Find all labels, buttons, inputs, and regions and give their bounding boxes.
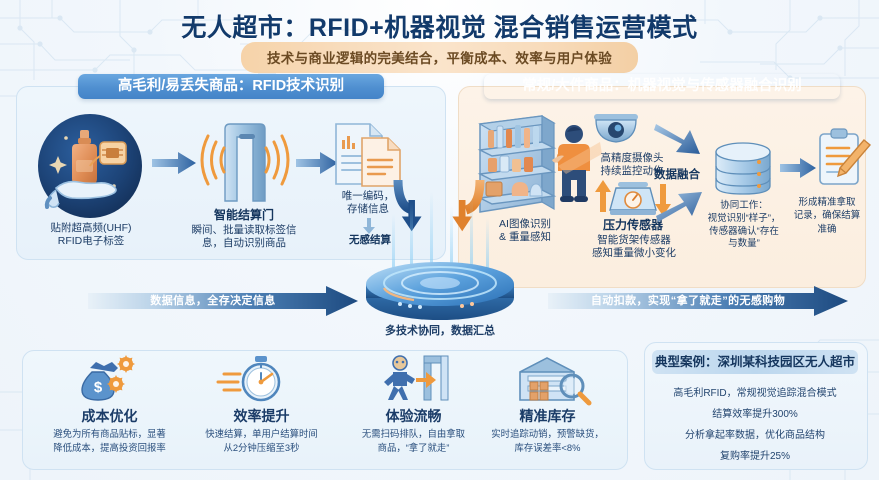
case-line-1: 高毛利RFID，常规视觉追踪混合模式 xyxy=(650,384,860,399)
left-panel-header: 高毛利/易丢失商品：RFID技术识别 xyxy=(78,74,384,99)
benefit-title: 体验流畅 xyxy=(338,406,489,426)
benefit-title: 精准库存 xyxy=(472,406,623,426)
arrow-right-icon-3 xyxy=(780,158,816,178)
left-step1-caption: 贴附超高频(UHF) RFID电子标签 xyxy=(24,222,158,248)
case-line-3: 分析拿起率数据，优化商品结构 xyxy=(650,426,860,441)
page-title: 无人超市：RFID+机器视觉 混合销售运营模式 xyxy=(0,8,879,44)
walking-person-gate-icon xyxy=(338,356,489,402)
left-flow-label: 数据信息，全存决定信息 xyxy=(88,288,338,314)
clipboard-pen-icon xyxy=(816,128,872,190)
money-bag-gear-icon: $ xyxy=(34,356,185,402)
rfid-gate-icon xyxy=(196,112,292,208)
right-record-caption: 形成精准拿取 记录，确保结算 准确 xyxy=(776,196,878,236)
page-subtitle: 技术与商业逻辑的完美结合，平衡成本、效率与用户体验 xyxy=(241,42,638,73)
right-flow-label: 自动扣款，实现“拿了就走”的无感购物 xyxy=(548,288,828,314)
infographic-canvas: 无人超市：RFID+机器视觉 混合销售运营模式 技术与商业逻辑的完美结合，平衡成… xyxy=(0,0,879,480)
warehouse-magnifier-icon xyxy=(472,356,623,402)
benefit-item-efficiency: 效率提升 快速结算，单用户结算时间 从2分钟压缩至3秒 xyxy=(186,350,337,468)
benefit-item-cost: $ 成本优化 避免为所有商品贴标，显著 降低成本，提高投资回报率 xyxy=(34,350,185,468)
right-panel-header: 常规/大件商品：机器视觉与传感器融合识别 xyxy=(484,74,840,99)
documents-icon xyxy=(330,120,406,188)
hand-holding-tagged-product-icon xyxy=(36,112,144,220)
arrow-diagonal-down-icon xyxy=(654,122,702,158)
case-study-header: 典型案例：深圳某科技园区无人超市 xyxy=(652,350,858,374)
benefit-desc: 无需扫码排队，自由拿取 商品，“拿了就走” xyxy=(342,427,485,454)
left-step2-title: 智能结算门 xyxy=(196,208,292,223)
benefit-desc: 实时追踪动销，预警缺货， 库存误差率<8% xyxy=(476,427,619,454)
arrow-right-icon-1 xyxy=(152,152,196,174)
benefit-title: 效率提升 xyxy=(186,406,337,426)
hub-label: 多技术协同，数据汇总 xyxy=(330,322,550,338)
case-line-4: 复购率提升25% xyxy=(650,447,860,462)
stopwatch-icon xyxy=(186,356,337,402)
svg-text:$: $ xyxy=(94,379,103,396)
right-fusion-label: 数据融合 xyxy=(646,168,708,182)
benefit-item-inventory: 精准库存 实时追踪动销，预警缺货， 库存误差率<8% xyxy=(472,350,623,468)
database-icon xyxy=(712,140,774,198)
arrow-down-icon-left xyxy=(362,218,376,234)
left-step2-caption: 瞬间、批量读取标签信 息，自动识别商品 xyxy=(176,224,312,250)
case-line-2: 结算效率提升300% xyxy=(650,405,860,420)
benefit-item-experience: 体验流畅 无需扫码排队，自由拿取 商品，“拿了就走” xyxy=(338,350,489,468)
data-hub-disc-icon xyxy=(348,236,532,328)
benefit-title: 成本优化 xyxy=(34,406,185,426)
subtitle-container: 技术与商业逻辑的完美结合，平衡成本、效率与用户体验 xyxy=(0,42,879,73)
benefit-desc: 避免为所有商品贴标，显著 降低成本，提高投资回报率 xyxy=(38,427,181,454)
benefit-desc: 快速结算，单用户结算时间 从2分钟压缩至3秒 xyxy=(190,427,333,454)
right-scale-caption: 智能货架传感器 感知重量微小变化 xyxy=(576,234,692,260)
